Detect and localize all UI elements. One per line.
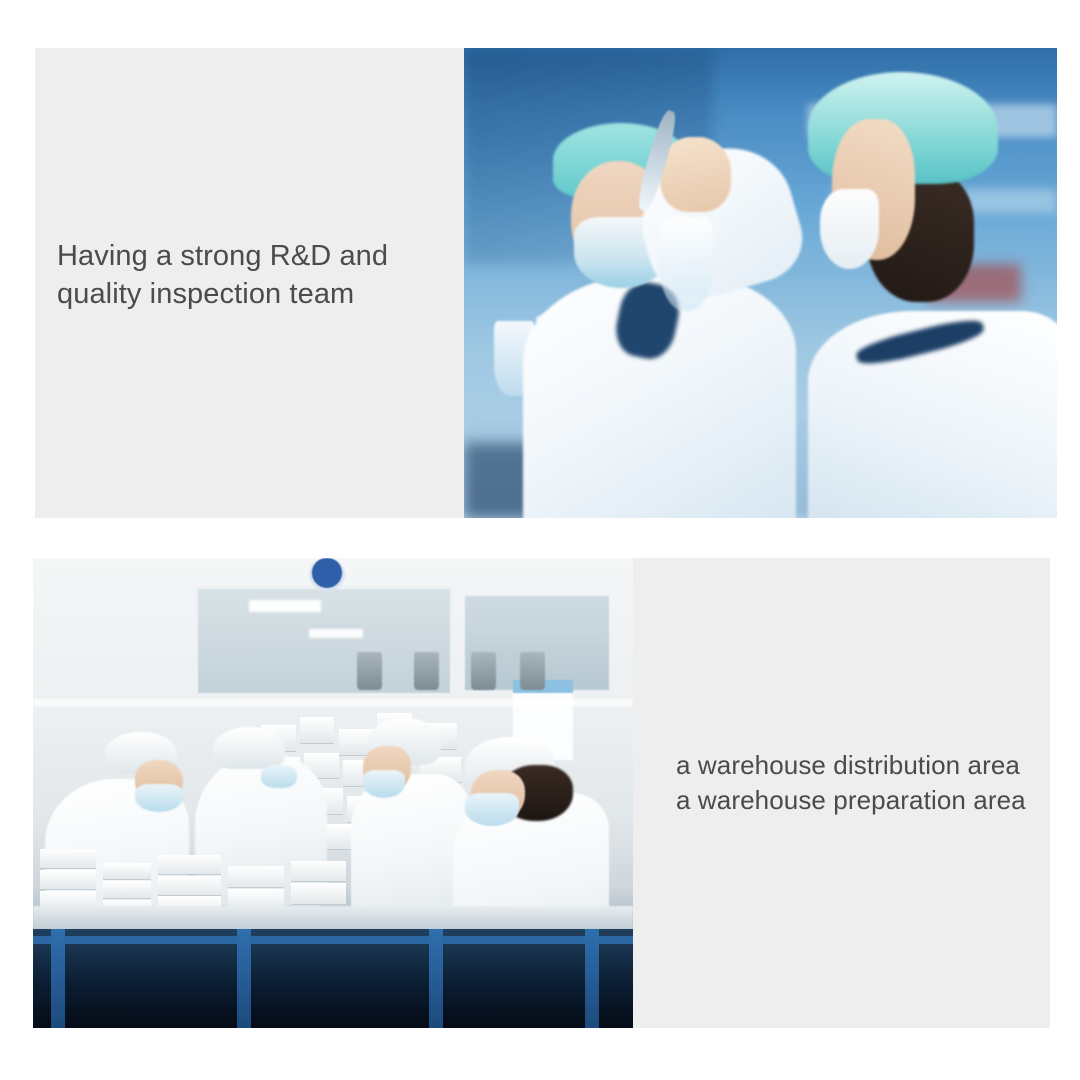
- container-3: [471, 652, 495, 690]
- carton: [291, 861, 347, 883]
- technician-right-hand: [660, 137, 731, 212]
- section-rd-quality-team: Having a strong R&D and quality inspecti…: [35, 48, 1057, 518]
- carton: [158, 855, 221, 875]
- carton: [103, 881, 152, 899]
- ceiling-light-1: [249, 600, 321, 612]
- carton: [103, 863, 152, 881]
- carton: [40, 849, 96, 869]
- table-leg-4: [585, 929, 599, 1028]
- worker-1-mask: [135, 784, 183, 812]
- carton: [291, 883, 347, 905]
- photo-lab-inspection: [464, 48, 1057, 518]
- caption-panel-top: Having a strong R&D and quality inspecti…: [35, 48, 464, 518]
- caption-text-rd-quality-team: Having a strong R&D and quality inspecti…: [57, 238, 457, 313]
- table-leg-3: [429, 929, 443, 1028]
- page-root: Having a strong R&D and quality inspecti…: [0, 0, 1080, 1080]
- carton: [40, 870, 96, 890]
- container-2: [414, 652, 438, 690]
- worker-2-hairnet: [213, 727, 285, 769]
- cleanroom-scene: [33, 558, 633, 1028]
- carton: [158, 876, 221, 896]
- worker-4-mask: [465, 793, 519, 826]
- lab-scene: [464, 48, 1057, 518]
- carton: [300, 717, 335, 744]
- lab-sample-flask: [660, 217, 713, 311]
- caption-text-warehouse-areas: a warehouse distribution area a warehous…: [676, 748, 1056, 817]
- shelf-containers: [345, 652, 549, 690]
- table-understructure: [33, 929, 633, 1028]
- section-warehouse-areas: a warehouse distribution area a warehous…: [33, 558, 1050, 1028]
- worker-3-mask: [363, 770, 405, 798]
- table-leg-2: [237, 929, 251, 1028]
- container-4: [520, 652, 544, 690]
- worker-2-mask: [261, 765, 297, 789]
- table-blue-rail: [33, 936, 633, 944]
- shelf-edge: [33, 699, 633, 706]
- carton: [228, 866, 284, 888]
- photo-warehouse-packing: [33, 558, 633, 1028]
- caption-panel-bottom: a warehouse distribution area a warehous…: [633, 558, 1050, 1028]
- table-leg-1: [51, 929, 65, 1028]
- wall-sign-icon: [309, 558, 345, 591]
- container-1: [357, 652, 381, 690]
- technician-right-mask: [820, 189, 879, 269]
- ceiling-light-2: [309, 629, 363, 638]
- foreground-carton-stacks: [33, 821, 381, 915]
